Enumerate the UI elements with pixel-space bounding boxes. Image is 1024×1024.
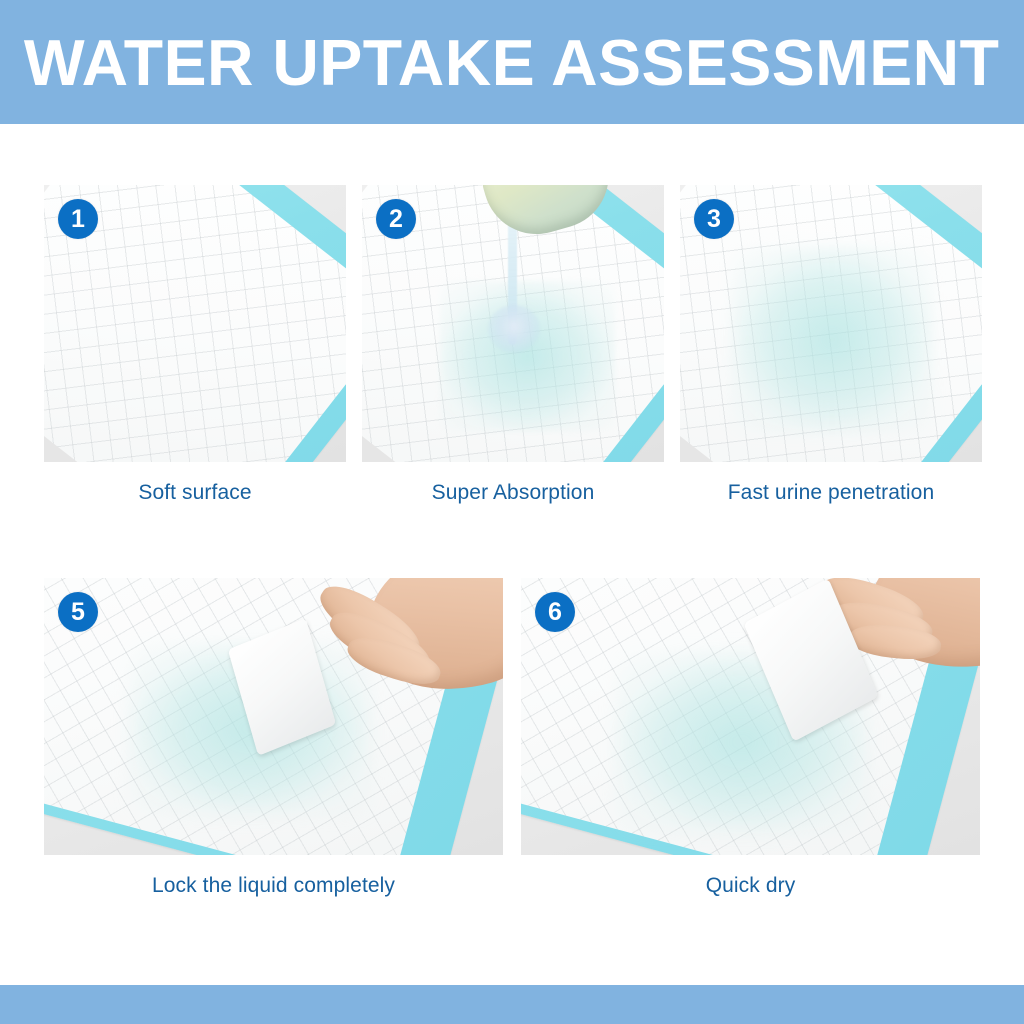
page-title: WATER UPTAKE ASSESSMENT — [10, 30, 1013, 95]
step-caption-5: Lock the liquid completely — [44, 873, 503, 899]
step-badge-5: 5 — [58, 592, 98, 632]
step-card-1[interactable]: 1 Soft surface — [44, 185, 346, 462]
step-caption-2: Super Absorption — [362, 480, 664, 506]
step-badge-2: 2 — [376, 199, 416, 239]
step-badge-1: 1 — [58, 199, 98, 239]
step-badge-6: 6 — [535, 592, 575, 632]
absorbed-liquid-patch — [440, 281, 615, 431]
step-caption-6: Quick dry — [521, 873, 980, 899]
step-image-5 — [44, 578, 503, 855]
absorbed-liquid-patch — [732, 247, 932, 432]
footer-banner — [0, 985, 1024, 1024]
liquid-splash — [488, 305, 540, 353]
step-image-6 — [521, 578, 980, 855]
step-card-2[interactable]: 2 Super Absorption — [362, 185, 664, 462]
step-badge-3: 3 — [694, 199, 734, 239]
step-card-3[interactable]: 3 Fast urine penetration — [680, 185, 982, 462]
step-card-6[interactable]: 6 Quick dry — [521, 578, 980, 855]
step-card-5[interactable]: 5 Lock the liquid completely — [44, 578, 503, 855]
step-caption-3: Fast urine penetration — [680, 480, 982, 506]
steps-grid: 1 Soft surface 2 Super Absorption — [0, 124, 1024, 985]
step-caption-1: Soft surface — [44, 480, 346, 506]
header-banner: WATER UPTAKE ASSESSMENT — [0, 0, 1024, 124]
